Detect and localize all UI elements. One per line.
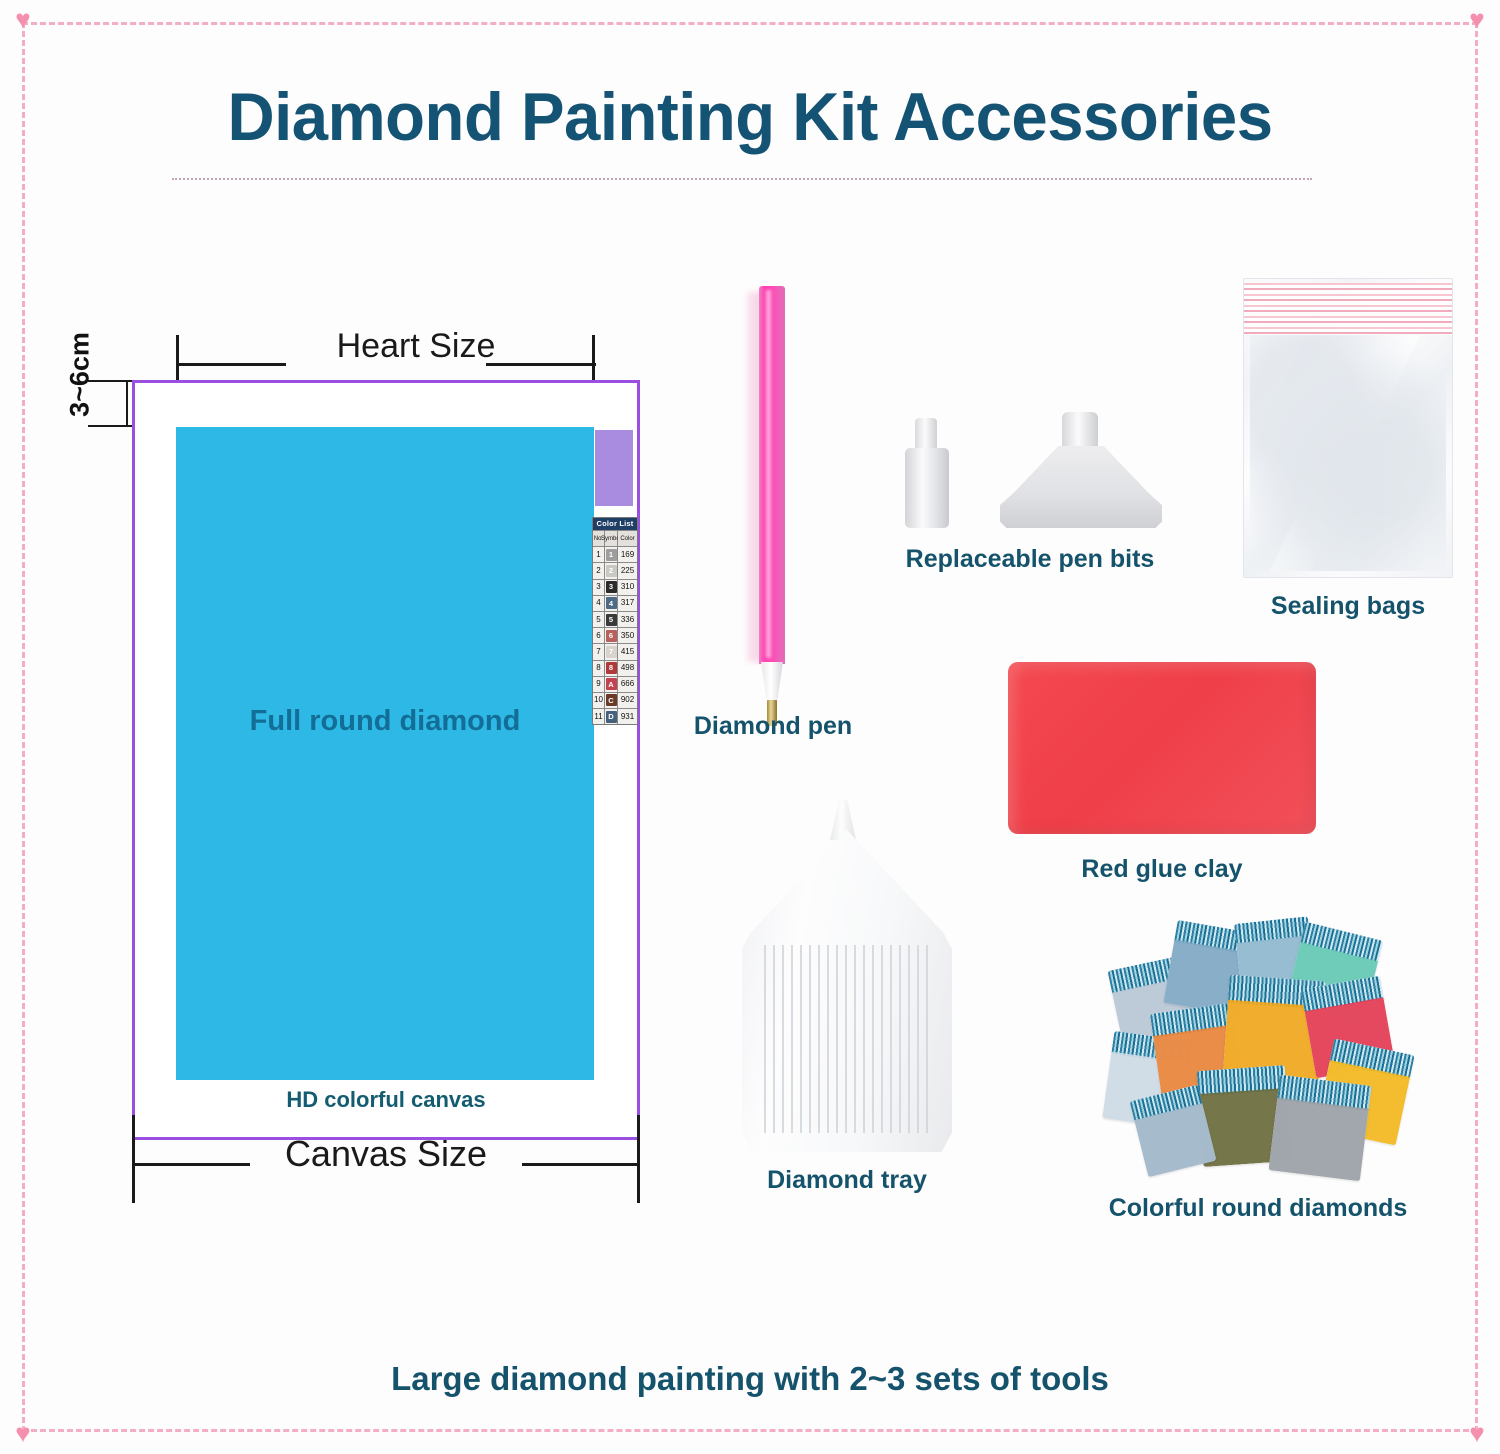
color-row-code: 310: [618, 579, 637, 595]
color-list-row: 33310: [593, 579, 637, 595]
color-symbol-chip: C: [606, 694, 617, 706]
heart-size-arrow-right: [486, 363, 596, 366]
color-list-rows: 1116922225333104431755336663507741588498…: [593, 546, 637, 724]
colorful-round-diamonds-image: [1108, 920, 1408, 1178]
infographic-page: ♥ ♥ ♥ ♥ Diamond Painting Kit Accessories…: [0, 0, 1500, 1454]
color-list-row: 77415: [593, 643, 637, 659]
color-row-symbol: 6: [605, 627, 618, 643]
canvas-printed-area: [176, 427, 594, 1080]
color-row-symbol: 4: [605, 595, 618, 611]
canvas-size-arrow-right: [522, 1163, 640, 1166]
caption-replaceable-pen-bits: Replaceable pen bits: [880, 545, 1180, 574]
color-list-header-row: No. Symbol Color: [593, 530, 637, 546]
color-list-title: Color List: [593, 518, 637, 530]
color-row-symbol: A: [605, 676, 618, 692]
color-list-row: 22225: [593, 562, 637, 578]
color-row-number: 1: [593, 546, 605, 562]
tray-ridges: [764, 945, 930, 1133]
caption-diamond-tray: Diamond tray: [722, 1166, 972, 1195]
pen-barrel: [759, 286, 785, 664]
color-symbol-chip: A: [606, 678, 617, 690]
color-row-number: 11: [593, 708, 605, 724]
page-title: Diamond Painting Kit Accessories: [30, 78, 1470, 156]
color-row-code: 931: [618, 708, 637, 724]
color-row-code: 336: [618, 611, 637, 627]
canvas-size-tick-left: [132, 1115, 135, 1203]
color-row-number: 3: [593, 579, 605, 595]
margin-arrow-line: [126, 380, 128, 427]
heart-icon-top-right: ♥: [1464, 8, 1490, 32]
color-list-row: 88498: [593, 660, 637, 676]
pen-bit-single-body: [905, 448, 949, 528]
color-row-number: 5: [593, 611, 605, 627]
caption-diamond-pen: Diamond pen: [648, 712, 898, 741]
heart-size-arrow-left: [176, 363, 286, 366]
color-swatch-block: [595, 430, 633, 506]
diamond-pen-image: [745, 282, 801, 702]
pen-bit-multi-flare: [1000, 446, 1162, 528]
color-list-row: 11D931: [593, 708, 637, 724]
pen-highlight: [766, 290, 771, 658]
color-list-row: 11169: [593, 546, 637, 562]
color-list-row: 9A666: [593, 676, 637, 692]
diamond-drill-bag: [1268, 1075, 1371, 1181]
color-row-number: 6: [593, 627, 605, 643]
color-row-number: 2: [593, 562, 605, 578]
margin-dimension-label: 3~6cm: [65, 315, 96, 435]
color-list-row: 66350: [593, 627, 637, 643]
color-row-symbol: 7: [605, 643, 618, 659]
heart-icon-bottom-left: ♥: [10, 1422, 36, 1446]
pen-bit-single-image: [905, 418, 949, 528]
diamond-tray-image: [742, 800, 952, 1152]
caption-red-glue-clay: Red glue clay: [1008, 855, 1316, 884]
color-row-number: 8: [593, 660, 605, 676]
pen-bit-multi-image: [1000, 412, 1162, 528]
tray-spout: [830, 800, 856, 840]
color-symbol-chip: 5: [606, 614, 617, 626]
color-symbol-chip: 2: [606, 565, 617, 577]
sealing-bag-image: [1243, 278, 1453, 578]
footer-text: Large diamond painting with 2~3 sets of …: [0, 1360, 1500, 1398]
color-symbol-chip: D: [606, 711, 617, 723]
drill-bag-contents: [1268, 1098, 1368, 1182]
full-round-diamond-label: Full round diamond: [176, 705, 594, 738]
color-row-number: 7: [593, 643, 605, 659]
color-row-symbol: 3: [605, 579, 618, 595]
color-list-row: 10C902: [593, 692, 637, 708]
color-row-symbol: D: [605, 708, 618, 724]
color-row-code: 666: [618, 676, 637, 692]
color-row-symbol: 8: [605, 660, 618, 676]
canvas-size-label: Canvas Size: [226, 1133, 546, 1175]
pen-ferrule: [761, 662, 783, 704]
sealing-bag-zipper: [1244, 283, 1452, 335]
color-symbol-chip: 3: [606, 581, 617, 593]
color-row-code: 169: [618, 546, 637, 562]
canvas-size-diagram: Heart Size 3~6cm Full round diamond HD c…: [36, 325, 686, 1205]
color-list-row: 55336: [593, 611, 637, 627]
color-row-number: 9: [593, 676, 605, 692]
hd-colorful-canvas-label: HD colorful canvas: [132, 1087, 640, 1113]
color-row-number: 4: [593, 595, 605, 611]
color-row-code: 415: [618, 643, 637, 659]
color-row-code: 350: [618, 627, 637, 643]
color-row-code: 317: [618, 595, 637, 611]
column-header-color: Color: [618, 530, 637, 546]
heart-icon-bottom-right: ♥: [1464, 1422, 1490, 1446]
color-symbol-chip: 7: [606, 646, 617, 658]
color-symbol-chip: 1: [606, 549, 617, 561]
caption-colorful-round-diamonds: Colorful round diamonds: [1098, 1194, 1418, 1223]
color-row-code: 498: [618, 660, 637, 676]
color-row-symbol: 5: [605, 611, 618, 627]
color-row-symbol: 1: [605, 546, 618, 562]
color-row-symbol: 2: [605, 562, 618, 578]
caption-sealing-bags: Sealing bags: [1223, 592, 1473, 621]
color-row-code: 225: [618, 562, 637, 578]
pen-bit-single-neck: [915, 418, 937, 452]
color-symbol-chip: 4: [606, 597, 617, 609]
color-row-number: 10: [593, 692, 605, 708]
color-row-code: 902: [618, 692, 637, 708]
canvas-size-arrow-left: [132, 1163, 250, 1166]
red-glue-clay-image: [1008, 662, 1316, 834]
color-list-table: Color List No. Symbol Color 111692222533…: [592, 517, 638, 725]
heart-size-label: Heart Size: [266, 327, 566, 366]
column-header-symbol: Symbol: [605, 530, 618, 546]
title-divider: [172, 178, 1312, 180]
color-row-symbol: C: [605, 692, 618, 708]
sealing-bag-creases: [1250, 335, 1446, 571]
color-list-row: 44317: [593, 595, 637, 611]
color-symbol-chip: 6: [606, 630, 617, 642]
canvas-size-tick-right: [637, 1115, 640, 1203]
heart-icon-top-left: ♥: [10, 8, 36, 32]
color-symbol-chip: 8: [606, 662, 617, 674]
